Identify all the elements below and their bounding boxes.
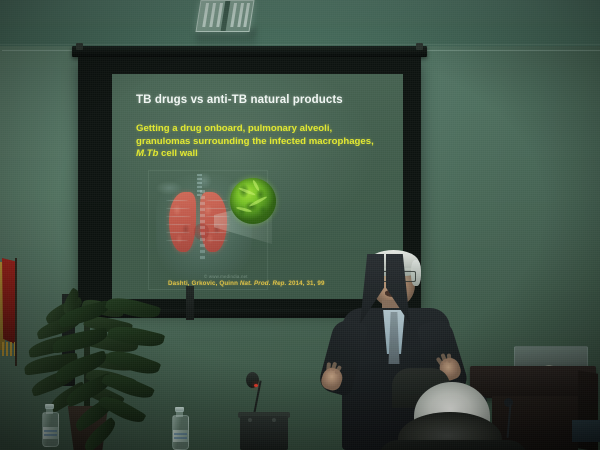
slide-subtitle-line2: granulomas surrounding the infected macr… bbox=[136, 136, 394, 149]
alveoli-magnified-callout bbox=[230, 178, 276, 224]
subtitle-line3-rest: cell wall bbox=[158, 148, 197, 159]
dark-post-center bbox=[186, 286, 194, 320]
screen-roller-bar bbox=[72, 46, 427, 57]
organism-abbrev: M.Tb bbox=[136, 148, 158, 159]
bottle-label bbox=[173, 430, 188, 442]
ceiling-light-icon bbox=[195, 0, 254, 32]
roller-bracket-right bbox=[416, 43, 423, 50]
bottle-body bbox=[42, 412, 59, 447]
ceiling-wall-seam bbox=[0, 44, 600, 45]
spine bbox=[200, 190, 205, 260]
image-watermark: © www.medindia.net bbox=[204, 274, 248, 279]
ceiling bbox=[0, 0, 600, 46]
microphone-base bbox=[240, 416, 288, 450]
potted-plant-foreground bbox=[58, 250, 178, 450]
slide-subtitle: Getting a drug onboard, pulmonary alveol… bbox=[136, 123, 394, 161]
equipment-box bbox=[572, 420, 600, 442]
slide-title: TB drugs vs anti-TB natural products bbox=[136, 94, 386, 106]
citation-rest: 2014, 31, 99 bbox=[286, 280, 324, 287]
presentation-photo: TB drugs vs anti-TB natural products Get… bbox=[0, 0, 600, 450]
roller-bracket-left bbox=[76, 43, 83, 50]
gooseneck-microphone bbox=[228, 368, 298, 450]
screen-wire-left bbox=[2, 50, 72, 51]
bottle-label bbox=[43, 427, 58, 439]
citation-authors: Dashti, Grkovic, Quinn bbox=[168, 280, 240, 287]
audience-shoulders bbox=[378, 440, 528, 450]
slide-subtitle-line1: Getting a drug onboard, pulmonary alveol… bbox=[136, 123, 394, 136]
screen-wire-right bbox=[427, 50, 600, 51]
water-bottle-right bbox=[172, 408, 187, 450]
citation-journal: Nat. Prod. Rep. bbox=[240, 280, 287, 287]
water-bottle-left bbox=[42, 405, 57, 447]
lung-left bbox=[169, 192, 196, 252]
slide-subtitle-line3: M.Tb cell wall bbox=[136, 148, 394, 161]
bottle-body bbox=[172, 415, 189, 450]
